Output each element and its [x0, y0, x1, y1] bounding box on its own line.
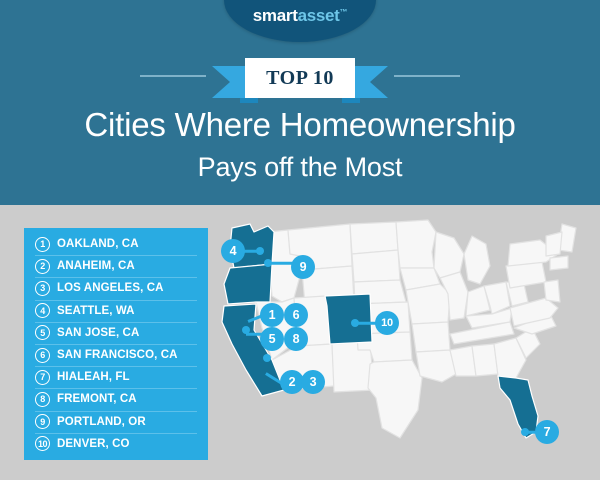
- rule-left-divider: [140, 75, 206, 77]
- rank-badge: 9: [35, 414, 50, 429]
- ranking-row[interactable]: 6SAN FRANCISCO, CA: [24, 344, 208, 366]
- ranking-row[interactable]: 5SAN JOSE, CA: [24, 322, 208, 344]
- rank-badge: 3: [35, 281, 50, 296]
- state-mi: [464, 236, 490, 284]
- state-tx: [368, 360, 422, 438]
- ranking-city-label: FREMONT, CA: [57, 393, 137, 405]
- rank-badge: 2: [35, 259, 50, 274]
- rank-badge: 6: [35, 348, 50, 363]
- brand-logo-text: smartasset™: [224, 6, 376, 26]
- ranking-row[interactable]: 4SEATTLE, WA: [24, 300, 208, 322]
- state-nd: [350, 222, 398, 254]
- ribbon-fold-left-icon: [240, 98, 258, 103]
- top-ten-ribbon: TOP 10: [0, 56, 600, 96]
- trademark-icon: ™: [340, 7, 348, 16]
- state-nj-de-md: [544, 280, 560, 302]
- ranking-city-label: PORTLAND, OR: [57, 416, 146, 428]
- page-subtitle: Pays off the Most: [0, 152, 600, 183]
- rank-badge: 5: [35, 325, 50, 340]
- state-sd: [352, 250, 400, 282]
- ranking-row[interactable]: 10DENVER, CO: [24, 433, 208, 455]
- map-marker-9[interactable]: 9: [291, 255, 315, 279]
- state-mo: [406, 284, 450, 324]
- map-marker-3[interactable]: 3: [301, 370, 325, 394]
- infographic-root: smartasset™ TOP 10 Cities Where Homeowne…: [0, 0, 600, 480]
- ranking-city-label: HIALEAH, FL: [57, 371, 130, 383]
- map-marker-1[interactable]: 1: [260, 303, 284, 327]
- map-marker-5[interactable]: 5: [260, 327, 284, 351]
- state-or-highlight: [224, 264, 272, 304]
- ranking-city-label: OAKLAND, CA: [57, 238, 139, 250]
- ranking-row[interactable]: 2ANAHEIM, CA: [24, 255, 208, 277]
- map-marker-4[interactable]: 4: [221, 239, 245, 263]
- ranking-city-label: SAN JOSE, CA: [57, 327, 139, 339]
- map-dot-bay-area: [242, 326, 250, 334]
- rank-badge: 4: [35, 303, 50, 318]
- state-ar: [412, 322, 450, 352]
- map-dot-seattle: [256, 247, 264, 255]
- map-dot-portland: [264, 259, 272, 267]
- state-mn: [396, 220, 436, 268]
- map-marker-10[interactable]: 10: [375, 311, 399, 335]
- brand-logo-pill[interactable]: smartasset™: [224, 0, 376, 42]
- rank-badge: 1: [35, 237, 50, 252]
- rank-badge: 7: [35, 370, 50, 385]
- ribbon-plate: TOP 10: [245, 58, 355, 98]
- brand-logo-primary: smart: [253, 6, 298, 25]
- state-ma-ct-ri: [550, 256, 568, 270]
- map-dot-hialeah: [521, 428, 529, 436]
- header-banner: smartasset™ TOP 10 Cities Where Homeowne…: [0, 0, 600, 205]
- rank-badge: 8: [35, 392, 50, 407]
- ranking-city-label: SAN FRANCISCO, CA: [57, 349, 178, 361]
- ranking-panel: 1OAKLAND, CA2ANAHEIM, CA3LOS ANGELES, CA…: [24, 228, 208, 460]
- page-title: Cities Where Homeownership: [0, 106, 600, 144]
- ribbon-label: TOP 10: [266, 67, 334, 90]
- ribbon-fold-right-icon: [342, 98, 360, 103]
- ranking-city-label: SEATTLE, WA: [57, 305, 135, 317]
- ranking-city-label: DENVER, CO: [57, 438, 130, 450]
- state-fl-highlight: [498, 376, 538, 438]
- rank-badge: 10: [35, 436, 50, 451]
- ranking-row[interactable]: 1OAKLAND, CA: [24, 233, 208, 255]
- state-wi: [434, 232, 464, 278]
- state-co-highlight: [325, 294, 372, 344]
- map-dot-denver: [351, 319, 359, 327]
- ranking-row[interactable]: 9PORTLAND, OR: [24, 411, 208, 433]
- rule-right-divider: [394, 75, 460, 77]
- state-vt-nh: [546, 232, 562, 256]
- ranking-city-label: LOS ANGELES, CA: [57, 282, 164, 294]
- ranking-row[interactable]: 7HIALEAH, FL: [24, 366, 208, 388]
- map-marker-6[interactable]: 6: [284, 303, 308, 327]
- ranking-row[interactable]: 3LOS ANGELES, CA: [24, 277, 208, 299]
- brand-logo-secondary: asset: [298, 6, 340, 25]
- ranking-city-label: ANAHEIM, CA: [57, 260, 135, 272]
- ranking-row[interactable]: 8FREMONT, CA: [24, 388, 208, 410]
- map-dot-socal: [263, 354, 271, 362]
- map-marker-7[interactable]: 7: [535, 420, 559, 444]
- us-map: 49165823107: [210, 210, 600, 480]
- map-marker-8[interactable]: 8: [284, 327, 308, 351]
